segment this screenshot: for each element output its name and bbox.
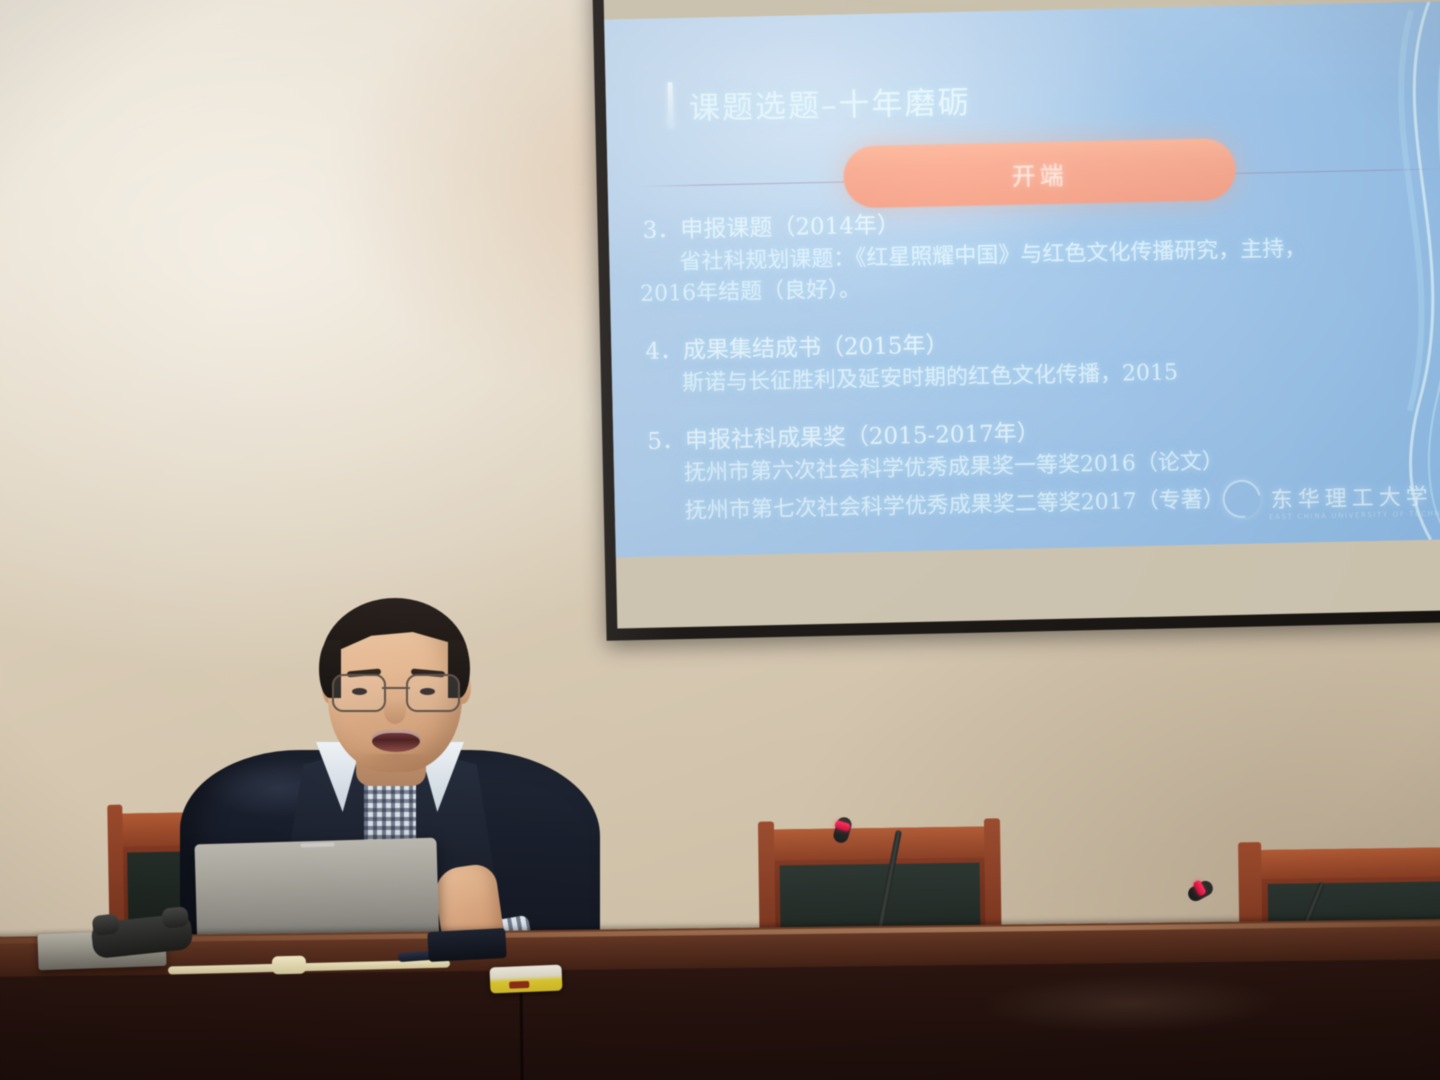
slide-section-badge-label: 开端	[1011, 155, 1068, 191]
projected-slide: 课题选题–十年磨砺 开端 3．申报课题（2014年） 省社科规划课题：《红星照耀…	[604, 1, 1440, 557]
university-logo: 东华理工大学 EAST CHINA UNIVERSITY OF TECHNOLO…	[1222, 476, 1433, 519]
eyeglass-lens-right	[406, 674, 460, 712]
eyeglass-lens-left	[332, 674, 386, 712]
slide-section-badge: 开端	[843, 138, 1236, 209]
conference-table-front	[0, 959, 1440, 1080]
desk-cable-knot	[272, 956, 306, 975]
projection-screen: 课题选题–十年磨砺 开端 3．申报课题（2014年） 省社科规划课题：《红星照耀…	[592, 0, 1440, 641]
projection-screen-surface: 课题选题–十年磨砺 开端 3．申报课题（2014年） 省社科规划课题：《红星照耀…	[603, 0, 1440, 629]
university-name: 东华理工大学	[1270, 479, 1433, 515]
slide-title: 课题选题–十年磨砺	[688, 76, 970, 127]
mobile-phone-yellow-case	[489, 965, 562, 994]
chair-top-rail	[1248, 846, 1440, 879]
presentation-photo-scene: 课题选题–十年磨砺 开端 3．申报课题（2014年） 省社科规划课题：《红星照耀…	[0, 0, 1440, 1080]
chair-top-rail	[765, 826, 994, 860]
speaker-nose	[384, 698, 406, 724]
slide-title-row: 课题选题–十年磨砺	[667, 76, 970, 129]
title-accent-bar	[667, 82, 673, 128]
university-emblem-icon	[1215, 473, 1268, 526]
speaker-chin-shadow	[358, 754, 432, 770]
speaker-mouth	[372, 730, 420, 752]
desk-dark-object	[427, 928, 506, 962]
